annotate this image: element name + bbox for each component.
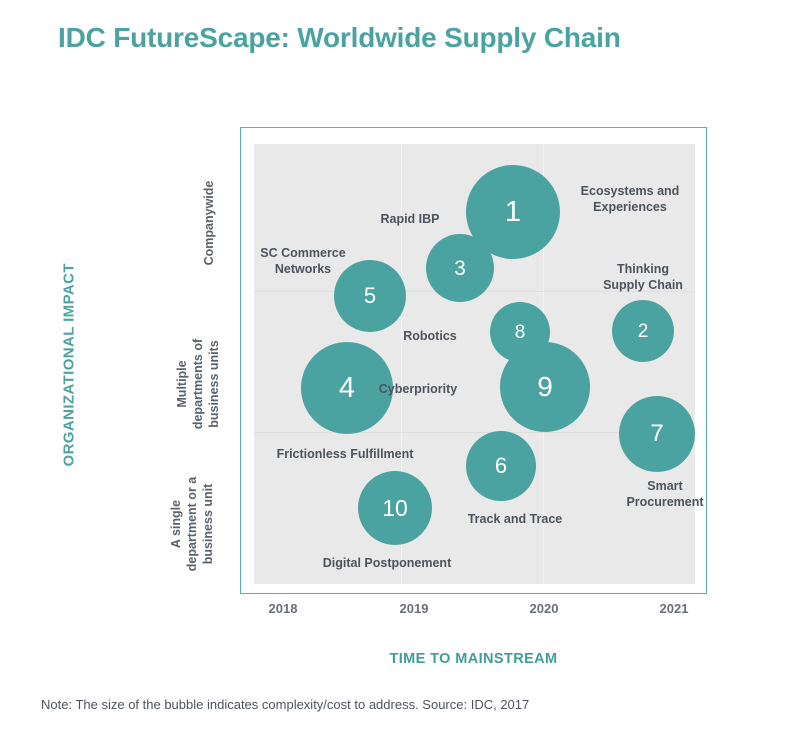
label-digital-postponement: Digital Postponement [317, 555, 457, 571]
label-robotics: Robotics [365, 328, 495, 344]
x-axis-tick-2018: 2018 [243, 601, 323, 616]
x-axis-tick-2021: 2021 [634, 601, 714, 616]
x-axis-tick-2019: 2019 [374, 601, 454, 616]
bubble-10[interactable]: 10 [358, 471, 432, 545]
label-frictionless-fulfillment: Frictionless Fulfillment [265, 446, 425, 462]
bubble-3[interactable]: 3 [426, 234, 494, 302]
x-axis-title: TIME TO MAINSTREAM [240, 651, 707, 667]
bubble-7[interactable]: 7 [619, 396, 695, 472]
footnote: Note: The size of the bubble indicates c… [41, 697, 529, 712]
label-rapid-ibp: Rapid IBP [345, 211, 475, 227]
y-axis-tick-companywide: Companywide [201, 148, 217, 298]
y-axis-tick-multiple-departments: Multiple departments of business units [174, 309, 222, 459]
label-ecosystems-and-experiences: Ecosystems and Experiences [565, 183, 695, 216]
label-track-and-trace: Track and Trace [450, 511, 580, 527]
label-smart-procurement: Smart Procurement [600, 478, 730, 511]
bubble-9[interactable]: 9 [500, 342, 590, 432]
bubble-6[interactable]: 6 [466, 431, 536, 501]
page-title: IDC FutureScape: Worldwide Supply Chain [58, 22, 621, 54]
y-axis-title: ORGANIZATIONAL IMPACT [61, 267, 78, 467]
y-axis-tick-single-department: A single department or a business unit [168, 449, 216, 599]
label-thinking-supply-chain: Thinking Supply Chain [578, 261, 708, 294]
label-sc-commerce-networks: SC Commerce Networks [238, 245, 368, 278]
bubble-2[interactable]: 2 [612, 300, 674, 362]
x-axis-tick-2020: 2020 [504, 601, 584, 616]
label-cyberpriority: Cyberpriority [353, 381, 483, 397]
